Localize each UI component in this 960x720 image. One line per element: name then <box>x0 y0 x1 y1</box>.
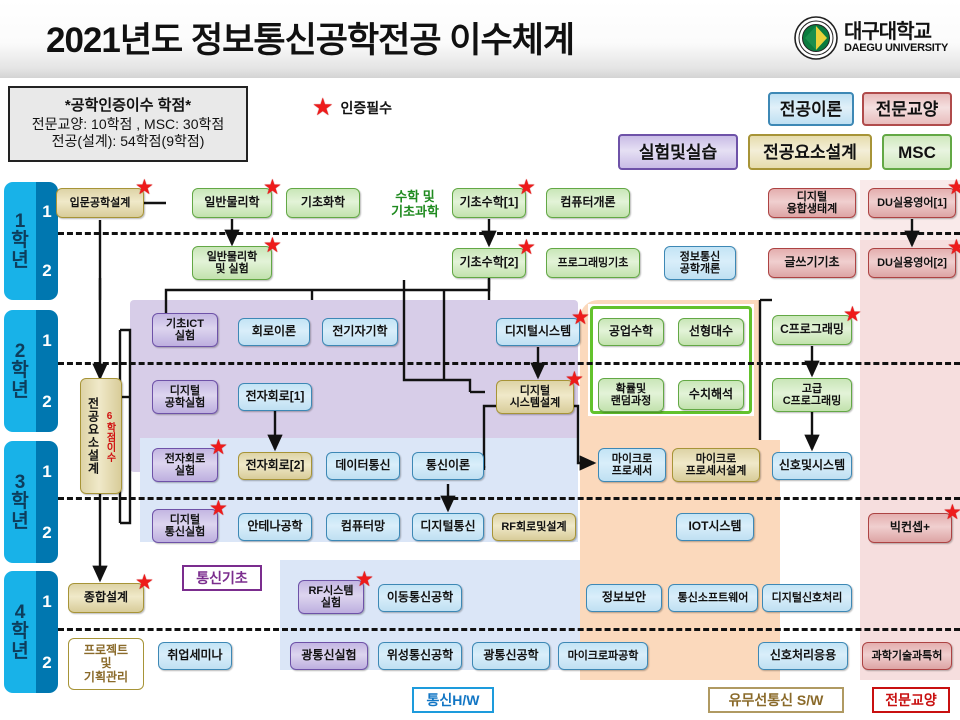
course-node-n19[interactable]: 선형대수 <box>678 318 744 346</box>
course-node-label: IOT시스템 <box>688 520 741 533</box>
design-column-label: 전공요소설계 <box>85 397 102 475</box>
design-column-note: 6학점이수 <box>102 411 117 462</box>
red-star-icon: ★ <box>312 96 334 120</box>
course-node-n31[interactable]: 마이크로프로세서 <box>598 448 666 482</box>
course-node-n07[interactable]: DU실용영어[1] <box>868 188 956 218</box>
course-node-n11[interactable]: 정보통신공학개론 <box>664 246 736 280</box>
course-node-n06[interactable]: 디지털융합생태계 <box>768 188 856 218</box>
category-tag-3: 유무선통신 S/W <box>708 687 844 713</box>
course-node-label: 마이크로프로세서설계 <box>686 453 747 478</box>
course-node-label: 빅컨셉+ <box>890 521 930 534</box>
course-node-label: 수치해석 <box>689 388 733 401</box>
course-node-label: 광통신실험 <box>301 649 356 662</box>
page-title: 2021년도 정보통신공학전공 이수체계 <box>46 12 574 63</box>
year-suffix2: 년 <box>11 512 28 531</box>
course-node-label: 마이크로파공학 <box>568 650 639 662</box>
course-node-label: 전기자기학 <box>332 325 387 338</box>
course-node-label: 종합설계 <box>84 591 128 604</box>
course-node-n47[interactable]: 프로젝트및기획관리 <box>68 638 144 690</box>
course-node-n49[interactable]: 광통신실험 <box>290 642 368 670</box>
course-node-n26[interactable]: 고급C프로그래밍 <box>772 378 852 412</box>
course-node-label: 확률및랜덤과정 <box>611 383 651 408</box>
required-star-icon: ★ <box>263 177 282 198</box>
semester-2: 2 <box>36 632 58 693</box>
required-star-icon: ★ <box>517 237 536 258</box>
semester-1: 1 <box>36 441 58 502</box>
required-star-icon: ★ <box>947 237 960 258</box>
year-number: 3 <box>15 473 26 492</box>
course-node-n09[interactable]: 기초수학[2] <box>452 248 526 278</box>
year-suffix2: 년 <box>11 251 28 270</box>
year-suffix: 학 <box>11 361 28 380</box>
semester-1: 1 <box>36 310 58 371</box>
panel-pink-liberal <box>860 238 960 680</box>
credit-requirement-box: *공학인증이수 학점* 전문교양: 10학점 , MSC: 30학점 전공(설계… <box>8 86 248 162</box>
course-node-label: RF회로및설계 <box>501 521 566 533</box>
legend-tag-2: 전문교양 <box>862 92 952 126</box>
star-legend-label: 인증필수 <box>341 98 393 118</box>
course-node-label: 프로그래밍기초 <box>558 257 629 269</box>
semester-2: 2 <box>36 241 58 300</box>
course-node-n39[interactable]: IOT시스템 <box>676 513 754 541</box>
course-node-label: DU실용영어[2] <box>877 257 947 269</box>
course-node-label: 취업세미나 <box>167 649 222 662</box>
course-node-label: 전자회로[2] <box>246 459 305 472</box>
legend-tag-label: 실험및실습 <box>639 144 717 161</box>
course-node-label: 안테나공학 <box>247 520 302 533</box>
course-node-n46[interactable]: 디지털신호처리 <box>762 584 852 612</box>
course-node-label: 신호및시스템 <box>779 459 845 472</box>
course-node-n12[interactable]: 글쓰기기초 <box>768 248 856 278</box>
course-node-n08[interactable]: 일반물리학및 실험 <box>192 246 272 280</box>
course-node-n40[interactable]: 빅컨셉+ <box>868 513 952 543</box>
course-node-n53[interactable]: 신호처리응용 <box>758 642 848 670</box>
required-star-icon: ★ <box>355 569 374 590</box>
course-node-n37[interactable]: 디지털통신 <box>412 513 484 541</box>
course-node-label: 정보통신공학개론 <box>680 251 720 276</box>
legend-tag-label: 전공이론 <box>780 101 843 118</box>
course-node-label: 전자회로[1] <box>246 390 305 403</box>
required-star-icon: ★ <box>517 177 536 198</box>
course-node-n15[interactable]: 회로이론 <box>238 318 310 346</box>
course-node-n05[interactable]: 컴퓨터개론 <box>546 188 630 218</box>
required-star-icon: ★ <box>209 498 228 519</box>
year-block-1: 1학년12 <box>4 182 58 300</box>
math-science-label: 수학 및기초과학 <box>372 190 458 220</box>
course-node-n24[interactable]: 확률및랜덤과정 <box>598 378 664 412</box>
course-node-label: 컴퓨터개론 <box>560 196 615 209</box>
legend-tag-label: 전문교양 <box>876 101 939 118</box>
course-node-label: 마이크로프로세서 <box>612 453 652 478</box>
course-node-n10[interactable]: 프로그래밍기초 <box>546 248 640 278</box>
semester-divider-1 <box>58 232 960 235</box>
course-node-n33[interactable]: 신호및시스템 <box>772 452 852 480</box>
year-number: 4 <box>15 603 26 622</box>
course-node-n04[interactable]: 기초수학[1] <box>452 188 526 218</box>
course-node-label: 기초수학[2] <box>460 256 519 269</box>
course-node-label: 디지털통신실험 <box>165 514 205 539</box>
course-node-label: 디지털시스템 <box>505 325 571 338</box>
required-star-icon: ★ <box>571 307 590 328</box>
legend-tag-label: 전공요소설계 <box>763 144 857 161</box>
course-node-n32[interactable]: 마이크로프로세서설계 <box>672 448 760 482</box>
semester-1: 1 <box>36 182 58 241</box>
page-header: 2021년도 정보통신공학전공 이수체계 대구대학교 DAEGU UNIVERS… <box>0 0 960 78</box>
course-node-label: 통신소프트웨어 <box>678 592 749 604</box>
required-star-icon: ★ <box>947 177 960 198</box>
legend-tag-3: 실험및실습 <box>618 134 738 170</box>
course-node-label: 공업수학 <box>609 325 653 338</box>
logo-english-name: DAEGU UNIVERSITY <box>844 43 948 55</box>
year-block-4: 4학년12 <box>4 571 58 693</box>
year-suffix: 학 <box>11 622 28 641</box>
course-node-label: 입문공학설계 <box>70 197 131 209</box>
course-node-n02[interactable]: 일반물리학 <box>192 188 272 218</box>
course-node-label: 과학기술과특허 <box>872 650 943 662</box>
course-node-label: 고급C프로그래밍 <box>783 383 842 408</box>
course-node-label: 디지털신호처리 <box>772 592 843 604</box>
year-label-1: 1학년 <box>4 182 36 300</box>
legend-tag-1: 전공이론 <box>768 92 854 126</box>
course-node-n51[interactable]: 광통신공학 <box>472 642 550 670</box>
legend-tag-5: MSC <box>882 134 952 170</box>
course-node-label: DU실용영어[1] <box>877 197 947 209</box>
credit-line-2: 전문교양: 10학점 , MSC: 30학점 <box>32 116 225 134</box>
year-suffix2: 년 <box>11 381 28 400</box>
course-node-label: 기초수학[1] <box>460 196 519 209</box>
required-star-icon: ★ <box>843 304 862 325</box>
category-tag-label: 전문교양 <box>885 690 937 710</box>
semester-2: 2 <box>36 371 58 432</box>
required-star-icon: ★ <box>135 177 154 198</box>
semester-labels-1: 12 <box>36 182 58 300</box>
star-legend: ★ 인증필수 <box>312 96 392 120</box>
year-suffix2: 년 <box>11 642 28 661</box>
course-node-n01[interactable]: 입문공학설계 <box>56 188 144 218</box>
semester-divider-4 <box>58 628 960 631</box>
semester-2: 2 <box>36 502 58 563</box>
year-label-2: 2학년 <box>4 310 36 432</box>
course-node-n21[interactable]: 디지털공학실험 <box>152 380 218 414</box>
course-node-n16[interactable]: 전기자기학 <box>322 318 398 346</box>
course-node-label: 컴퓨터망 <box>341 520 385 533</box>
semester-divider-3 <box>58 497 960 500</box>
course-node-n35[interactable]: 안테나공학 <box>238 513 312 541</box>
course-node-label: RF시스템실험 <box>308 585 353 610</box>
year-suffix: 학 <box>11 231 28 250</box>
course-node-label: C프로그래밍 <box>780 323 844 336</box>
semester-labels-2: 12 <box>36 310 58 432</box>
course-node-label: 디지털공학실험 <box>165 385 205 410</box>
course-node-n18[interactable]: 공업수학 <box>598 318 664 346</box>
course-node-n41[interactable]: 종합설계 <box>68 583 144 613</box>
legend-tag-label: MSC <box>898 144 936 161</box>
course-node-label: 프로젝트및기획관리 <box>84 644 128 684</box>
category-tag-1: 통신기초 <box>182 565 262 591</box>
course-node-n43[interactable]: 이동통신공학 <box>378 584 462 612</box>
course-node-n54[interactable]: 과학기술과특허 <box>862 642 952 670</box>
year-block-3: 3학년12 <box>4 441 58 563</box>
semester-divider-2 <box>58 362 960 365</box>
course-node-label: 정보보안 <box>602 591 646 604</box>
semester-labels-3: 12 <box>36 441 58 563</box>
course-node-n17[interactable]: 디지털시스템 <box>496 318 580 346</box>
course-node-label: 광통신공학 <box>483 649 538 662</box>
legend-tag-4: 전공요소설계 <box>748 134 872 170</box>
category-tag-label: 유무선통신 S/W <box>729 690 824 710</box>
credit-title: *공학인증이수 학점* <box>65 97 191 116</box>
category-tag-label: 통신H/W <box>427 690 480 710</box>
course-node-n52[interactable]: 마이크로파공학 <box>558 642 648 670</box>
daegu-university-emblem-icon <box>794 16 838 60</box>
course-node-n45[interactable]: 통신소프트웨어 <box>668 584 758 612</box>
course-node-n38[interactable]: RF회로및설계 <box>492 513 576 541</box>
course-node-n03[interactable]: 기초화학 <box>286 188 360 218</box>
category-tag-4: 전문교양 <box>872 687 950 713</box>
course-node-n30[interactable]: 통신이론 <box>412 452 484 480</box>
course-node-label: 이동통신공학 <box>387 591 453 604</box>
course-node-n20[interactable]: C프로그래밍 <box>772 315 852 345</box>
course-node-label: 디지털통신 <box>420 520 475 533</box>
logo-korean-name: 대구대학교 <box>844 22 948 43</box>
course-node-n48[interactable]: 취업세미나 <box>158 642 232 670</box>
course-node-label: 위성통신공학 <box>387 649 453 662</box>
course-node-n22[interactable]: 전자회로[1] <box>238 383 312 411</box>
course-node-label: 글쓰기기초 <box>784 256 839 269</box>
category-tag-label: 통신기초 <box>196 568 248 588</box>
course-node-n14[interactable]: 기초ICT실험 <box>152 313 218 347</box>
semester-labels-4: 12 <box>36 571 58 693</box>
category-tag-2: 통신H/W <box>412 687 494 713</box>
year-block-2: 2학년12 <box>4 310 58 432</box>
course-node-n13[interactable]: DU실용영어[2] <box>868 248 956 278</box>
course-node-label: 전자회로실험 <box>165 453 205 478</box>
course-node-label: 통신이론 <box>426 459 470 472</box>
university-logo: 대구대학교 DAEGU UNIVERSITY <box>794 16 948 60</box>
course-node-n23[interactable]: 디지털시스템설계 <box>496 380 574 414</box>
major-element-design-column[interactable]: 전공요소설계 6학점이수 <box>80 378 122 494</box>
course-node-label: 신호처리응용 <box>770 649 836 662</box>
course-node-label: 일반물리학및 실험 <box>207 251 258 276</box>
year-suffix: 학 <box>11 492 28 511</box>
year-label-4: 4학년 <box>4 571 36 693</box>
credit-line-3: 전공(설계): 54학점(9학점) <box>52 133 205 151</box>
required-star-icon: ★ <box>263 235 282 256</box>
course-node-label: 일반물리학 <box>204 196 259 209</box>
required-star-icon: ★ <box>209 437 228 458</box>
year-number: 1 <box>15 212 26 231</box>
course-node-n44[interactable]: 정보보안 <box>586 584 662 612</box>
course-node-label: 기초화학 <box>301 196 345 209</box>
required-star-icon: ★ <box>135 572 154 593</box>
course-node-label: 선형대수 <box>689 325 733 338</box>
course-node-n29[interactable]: 데이터통신 <box>326 452 400 480</box>
course-node-label: 기초ICT실험 <box>166 318 204 343</box>
required-star-icon: ★ <box>943 502 960 523</box>
course-node-label: 디지털시스템설계 <box>510 385 561 410</box>
year-number: 2 <box>15 342 26 361</box>
course-node-label: 회로이론 <box>252 325 296 338</box>
course-node-n25[interactable]: 수치해석 <box>678 380 744 410</box>
required-star-icon: ★ <box>565 369 584 390</box>
course-node-label: 데이터통신 <box>335 459 390 472</box>
course-node-n36[interactable]: 컴퓨터망 <box>326 513 400 541</box>
course-node-n28[interactable]: 전자회로[2] <box>238 452 312 480</box>
year-label-3: 3학년 <box>4 441 36 563</box>
course-node-n50[interactable]: 위성통신공학 <box>378 642 462 670</box>
semester-1: 1 <box>36 571 58 632</box>
course-node-label: 디지털융합생태계 <box>787 191 838 216</box>
